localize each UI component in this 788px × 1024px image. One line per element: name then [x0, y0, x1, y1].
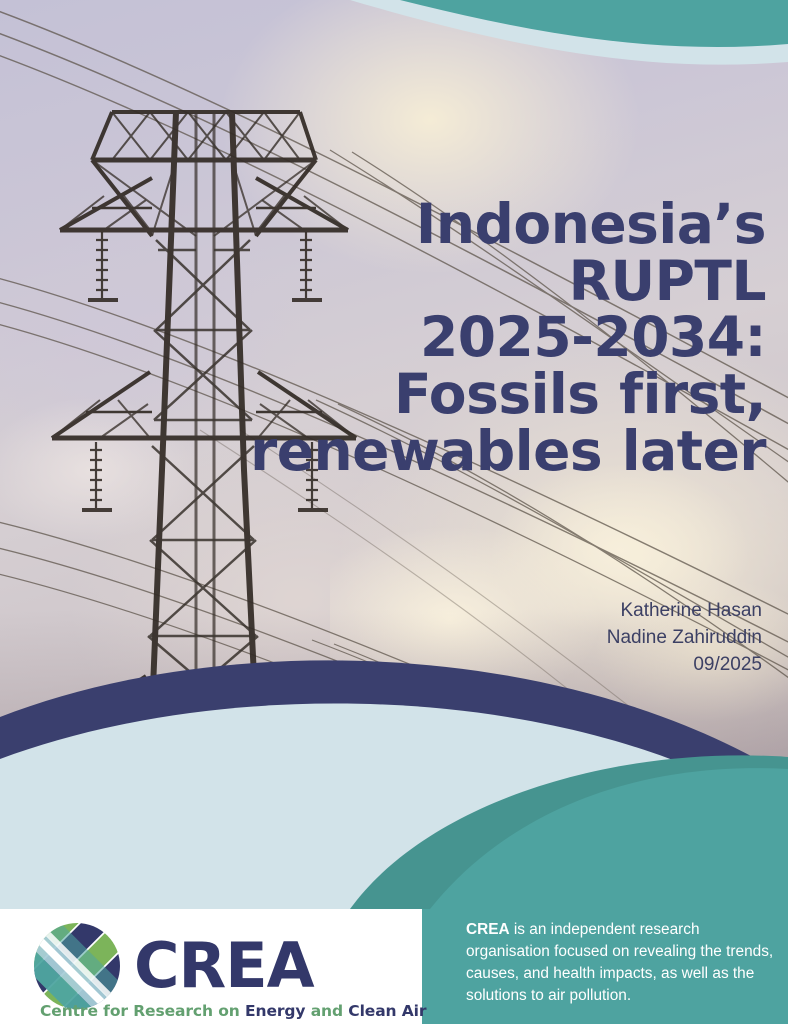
top-wave-decoration: [0, 0, 788, 130]
title-line-4: Fossils first,: [394, 362, 766, 426]
cover-title-block: Indonesia’s RUPTL 2025-2034: Fossils fir…: [146, 196, 766, 479]
title-line-3: 2025-2034:: [420, 305, 766, 369]
cover-footer: CREA Centre for Research on Energy and C…: [0, 909, 788, 1024]
authors-block: Katherine Hasan Nadine Zahiruddin 09/202…: [607, 598, 762, 679]
crea-tagline: Centre for Research on Energy and Clean …: [40, 1002, 426, 1020]
crea-logo: CREA: [34, 923, 314, 1009]
tagline-part-4: Clean Air: [348, 1002, 426, 1020]
author-name-1: Katherine Hasan: [607, 598, 762, 625]
title-line-1: Indonesia’s: [416, 192, 766, 256]
title-line-5: renewables later: [250, 419, 766, 483]
author-name-2: Nadine Zahiruddin: [607, 625, 762, 652]
blurb-rest: is an independent research organisation …: [466, 921, 773, 1004]
crea-wordmark: CREA: [134, 935, 314, 997]
tagline-part-2: Energy: [245, 1002, 305, 1020]
report-cover: Indonesia’s RUPTL 2025-2034: Fossils fir…: [0, 0, 788, 1024]
tagline-part-3: and: [305, 1002, 348, 1020]
organisation-blurb: CREA is an independent research organisa…: [466, 919, 782, 1007]
page-title: Indonesia’s RUPTL 2025-2034: Fossils fir…: [146, 196, 766, 479]
title-line-2: RUPTL: [569, 249, 766, 313]
tagline-part-1: Centre for Research on: [40, 1002, 245, 1020]
publication-date: 09/2025: [607, 652, 762, 679]
blurb-lead: CREA: [466, 921, 510, 938]
crea-circle-stripes-icon: [34, 923, 120, 1009]
